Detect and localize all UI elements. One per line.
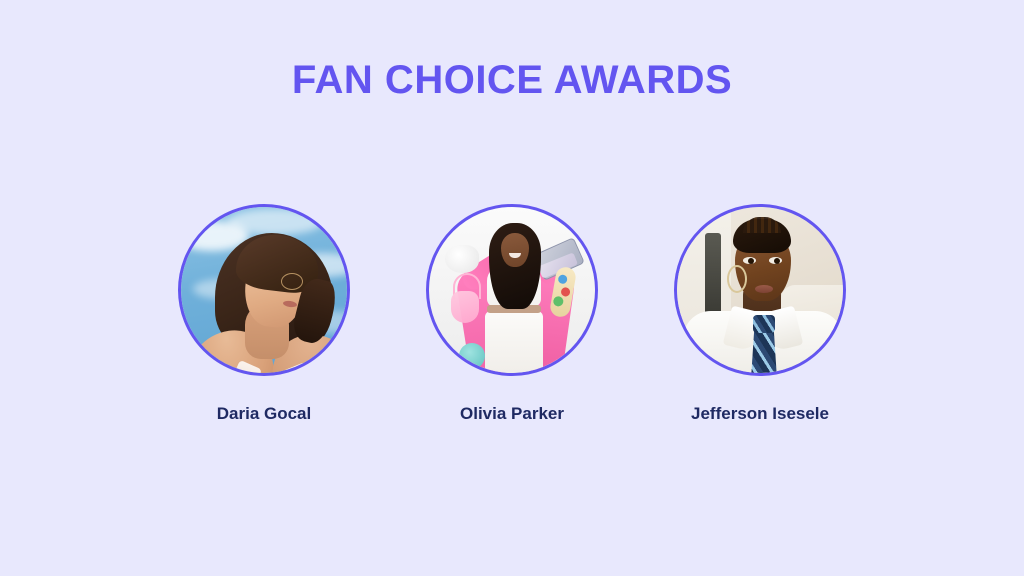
nominee-card[interactable]: Olivia Parker xyxy=(382,204,642,425)
avatar[interactable] xyxy=(674,204,846,376)
pupil-shape xyxy=(774,258,780,264)
face-shape xyxy=(501,233,529,267)
slide-canvas: FAN CHOICE AWARDS xyxy=(0,0,1024,576)
sticker-dot xyxy=(553,296,565,308)
teal-accessory-shape xyxy=(459,343,485,369)
sticker-dot xyxy=(560,287,570,297)
hoop-earring-shape xyxy=(727,265,747,293)
page-title: FAN CHOICE AWARDS xyxy=(0,58,1024,102)
nominee-name: Jefferson Isesele xyxy=(630,403,890,425)
nominee-name: Daria Gocal xyxy=(134,403,394,425)
dark-object-shape xyxy=(705,233,721,317)
avatar[interactable] xyxy=(426,204,598,376)
pupil-shape xyxy=(748,258,754,264)
skirt-shape xyxy=(485,311,543,373)
necktie-knot-shape xyxy=(753,315,775,333)
nominee-photo-olivia-parker xyxy=(429,207,595,373)
pink-bag-shape xyxy=(451,291,479,323)
nominee-row: Daria Gocal xyxy=(0,204,1024,444)
cloud-shape xyxy=(227,209,323,235)
sticker-dot xyxy=(557,274,567,284)
nominee-card[interactable]: Daria Gocal xyxy=(134,204,394,425)
avatar[interactable] xyxy=(178,204,350,376)
necktie-shape xyxy=(751,331,777,373)
lips-shape xyxy=(755,285,773,293)
white-bag-shape xyxy=(445,245,479,273)
nominee-card[interactable]: Jefferson Isesele xyxy=(630,204,890,425)
glasses-shape xyxy=(281,273,303,290)
nominee-photo-daria-gocal xyxy=(181,207,347,373)
nominee-photo-jefferson-isesele xyxy=(677,207,843,373)
nominee-name: Olivia Parker xyxy=(382,403,642,425)
